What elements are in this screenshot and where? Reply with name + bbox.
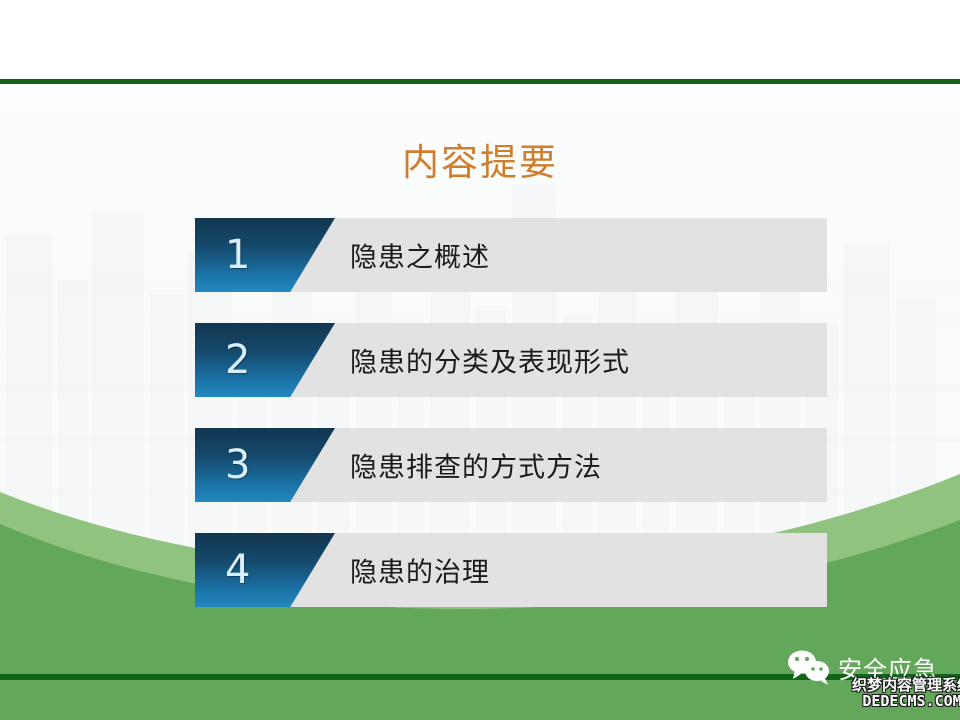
top-green-rule xyxy=(0,79,960,84)
item-number: 3 xyxy=(225,445,250,485)
list-item[interactable]: 3 隐患排查的方式方法 xyxy=(195,428,827,502)
item-number-badge: 1 xyxy=(195,218,335,292)
watermark-en-text: DEDECMS.COM xyxy=(852,694,960,710)
agenda-list: 1 隐患之概述 2 隐患的分类及表现形式 3 隐患排查的方式方法 4 隐患的治理 xyxy=(195,218,827,638)
list-item[interactable]: 2 隐患的分类及表现形式 xyxy=(195,323,827,397)
item-label: 隐患排查的方式方法 xyxy=(350,446,602,485)
item-label: 隐患的分类及表现形式 xyxy=(350,341,630,380)
item-label: 隐患之概述 xyxy=(350,236,490,275)
badge-shape xyxy=(195,323,335,397)
list-item[interactable]: 1 隐患之概述 xyxy=(195,218,827,292)
item-label: 隐患的治理 xyxy=(350,551,490,590)
dedecms-watermark: 织梦内容管理系统 DEDECMS.COM xyxy=(852,678,960,710)
badge-shape xyxy=(195,428,335,502)
page-title: 内容提要 xyxy=(0,132,960,186)
item-number: 2 xyxy=(225,340,250,380)
item-number: 1 xyxy=(225,235,250,275)
wechat-icon xyxy=(786,648,832,686)
item-number-badge: 3 xyxy=(195,428,335,502)
badge-shape xyxy=(195,218,335,292)
presentation-slide: 内容提要 1 隐患之概述 2 隐患的分类及表现形式 3 隐患排查的方式方法 xyxy=(0,0,960,720)
item-number-badge: 4 xyxy=(195,533,335,607)
list-item[interactable]: 4 隐患的治理 xyxy=(195,533,827,607)
item-number: 4 xyxy=(225,550,250,590)
item-number-badge: 2 xyxy=(195,323,335,397)
badge-shape xyxy=(195,533,335,607)
